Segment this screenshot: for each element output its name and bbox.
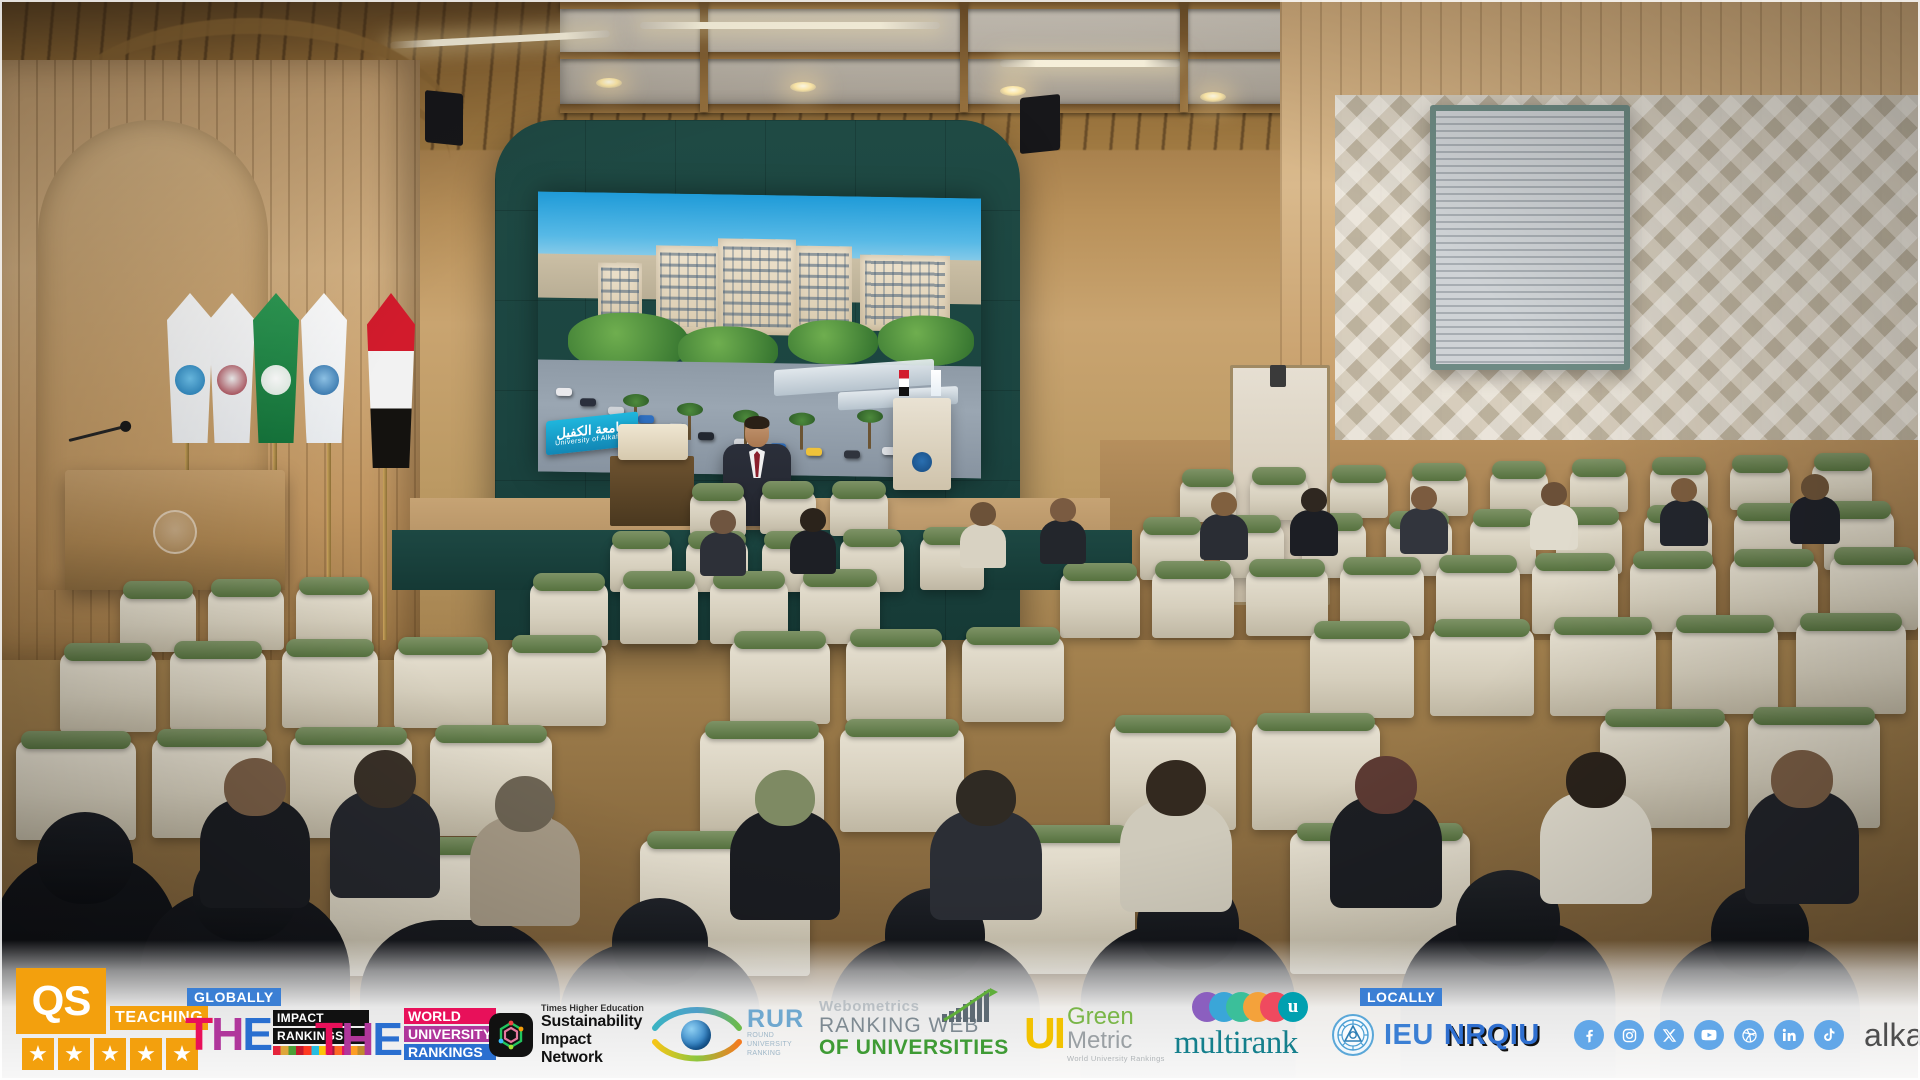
multirank-wordmark: multirank [1174, 1027, 1324, 1060]
badge-locally: LOCALLY [1360, 988, 1442, 1006]
audience-seat [170, 650, 266, 730]
audience-seat [508, 644, 606, 726]
multirank-circles: u [1192, 992, 1324, 1026]
tiktok-icon[interactable] [1814, 1020, 1844, 1050]
greenmetric-word-metric: Metric [1067, 1029, 1165, 1053]
audience-member [470, 776, 580, 916]
ceiling-downlight [1000, 86, 1026, 96]
ui-greenmetric-logo: UI Green Metric World University Ranking… [1024, 962, 1174, 1074]
audience-member [330, 750, 440, 890]
rur-sub3: RANKING [747, 1050, 804, 1059]
multirank-u-mark: u [1278, 992, 1308, 1022]
audience-seat [1672, 624, 1778, 714]
audience-member [1745, 750, 1859, 894]
sustainability-impact-network-logo: Times Higher Education Sustainability Im… [489, 962, 649, 1074]
the-acronym: T H E [185, 1014, 271, 1055]
audience-seat [1310, 630, 1414, 718]
flag-institution-4 [301, 293, 347, 443]
parked-car [556, 388, 572, 396]
wall-speaker [1270, 365, 1286, 387]
audience-member [790, 508, 836, 570]
youtube-icon[interactable] [1694, 1020, 1724, 1050]
campus-greenery [788, 319, 878, 364]
ceiling-downlight [790, 82, 816, 92]
rur-globe-icon [681, 1020, 711, 1050]
qs-star: ★ [22, 1038, 54, 1070]
qs-logo: QS [16, 968, 106, 1034]
audience-seat [1570, 468, 1628, 512]
greenmetric-mark: UI [1024, 1014, 1064, 1054]
sin-line1: Sustainability [541, 1013, 649, 1031]
the-letter-t: T [315, 1019, 341, 1060]
flag-institution-1 [167, 293, 213, 443]
x-twitter-icon[interactable] [1654, 1020, 1684, 1050]
audience-seat [1430, 628, 1534, 716]
wur-line-rankings: RANKINGS [404, 1044, 496, 1060]
audience-member [1400, 486, 1448, 550]
ceiling-beam [560, 52, 1320, 59]
ceiling-beam [560, 0, 1320, 9]
wur-line-world: WORLD [404, 1008, 496, 1024]
rur-sub2: UNIVERSITY [747, 1041, 804, 1050]
campus-building [718, 238, 796, 335]
ceiling-light-strip [640, 22, 940, 29]
qs-stars-block: QS TEACHING ★ ★ ★ ★ ★ [16, 962, 181, 1074]
audience-seat [1152, 570, 1234, 638]
linkedin-icon[interactable] [1774, 1020, 1804, 1050]
audience-seat [394, 646, 492, 728]
audience-seat [846, 638, 946, 722]
audience-member [1330, 756, 1442, 898]
parked-car [580, 398, 596, 406]
ceiling-speaker-box [1020, 94, 1060, 154]
audience-member [1530, 482, 1578, 546]
dribbble-icon[interactable] [1734, 1020, 1764, 1050]
parked-car [638, 415, 654, 423]
audience-seat [60, 652, 156, 732]
webometrics-logo: Webometrics RANKING WEB OF UNIVERSITIES [819, 962, 1024, 1074]
audience-seat [282, 648, 378, 728]
audience-member [1540, 752, 1652, 894]
audience-member [200, 758, 310, 898]
rur-name: RUR [747, 1007, 804, 1032]
rur-eye-mark [649, 1002, 745, 1064]
branding-footer-inner: QS TEACHING ★ ★ ★ ★ ★ GLOBALLY T H [0, 962, 1920, 1074]
audience-member [730, 770, 840, 910]
ceiling-speaker-box [425, 90, 463, 146]
wur-line-university: UNIVERSITY [404, 1026, 496, 1042]
flag-emblem [309, 365, 339, 395]
audience-member [1200, 492, 1248, 556]
the-letter-e: E [242, 1014, 271, 1055]
lectern-flag-iraq [899, 370, 909, 396]
growth-chart-icon [942, 988, 1000, 1022]
audience-member [1790, 474, 1840, 540]
ceiling-light-strip [1000, 60, 1180, 67]
instagram-icon[interactable] [1614, 1020, 1644, 1050]
local-rankings-block: LOCALLY [1324, 962, 1574, 1074]
the-letter-e: E [372, 1019, 401, 1060]
audience-seat [730, 640, 830, 724]
audience-member [1120, 760, 1232, 902]
audience-seat [962, 636, 1064, 722]
screenshot-root: جامعة الكفيل University of Alkafeel [0, 0, 1920, 1080]
audience-member [700, 510, 746, 572]
lectern-flag-institution [931, 370, 941, 396]
qs-star: ★ [58, 1038, 90, 1070]
branding-footer: QS TEACHING ★ ★ ★ ★ ★ GLOBALLY T H [0, 940, 1920, 1080]
rur-logo: RUR ROUND UNIVERSITY RANKING [649, 962, 819, 1074]
the-letter-t: T [185, 1014, 211, 1055]
the-world-university-rankings-logo: T H E WORLD UNIVERSITY RANKINGS [311, 962, 489, 1074]
social-handle[interactable]: alkafeeleduiq [1864, 1017, 1920, 1054]
ceiling-beam [700, 0, 708, 112]
flag-institution-3 [253, 293, 299, 443]
sin-line2: Impact Network [541, 1031, 649, 1067]
rur-sub1: ROUND [747, 1032, 804, 1041]
flag-emblem [217, 365, 247, 395]
qs-star-rating: ★ ★ ★ ★ ★ [22, 1038, 198, 1070]
audience-seat [620, 580, 698, 644]
auditorium-room: جامعة الكفيل University of Alkafeel [0, 0, 1920, 1080]
window-blind [1430, 105, 1630, 370]
the-letter-h: H [211, 1014, 242, 1055]
audience-seat [1330, 474, 1388, 518]
qs-star: ★ [130, 1038, 162, 1070]
audience-seat [1796, 622, 1906, 714]
sin-eyebrow: Times Higher Education [541, 1003, 649, 1013]
ceiling-downlight [1200, 92, 1226, 102]
audience-member [1660, 478, 1708, 542]
greenmetric-subtitle: World University Rankings [1067, 1055, 1165, 1063]
hexagon-network-icon [489, 1013, 533, 1057]
audience-member [1290, 488, 1338, 552]
social-links: alkafeeleduiq [1574, 983, 1920, 1054]
badge-globally: GLOBALLY [187, 988, 281, 1006]
webometrics-line3: OF UNIVERSITIES [819, 1037, 1024, 1059]
ceiling-beam [1180, 0, 1188, 112]
ieu-seal-icon [1332, 1014, 1374, 1056]
facebook-icon[interactable] [1574, 1020, 1604, 1050]
presenter-hair [745, 416, 770, 429]
audience-member [960, 502, 1006, 564]
ieu-wordmark: IEU [1384, 1019, 1434, 1052]
palm-tree [688, 412, 691, 440]
ceiling-beam [560, 104, 1320, 113]
the-letter-h: H [341, 1019, 372, 1060]
qs-star: ★ [94, 1038, 126, 1070]
flag-emblem [175, 365, 205, 395]
audience-member [930, 770, 1042, 910]
qs-logo-text: QS [32, 980, 91, 1022]
nrqiu-wordmark: NRQIU [1444, 1019, 1540, 1052]
greenmetric-word-green: Green [1067, 1005, 1165, 1029]
the-acronym: T H E [315, 1019, 401, 1060]
audience-seat [1060, 572, 1140, 638]
audience-member [1040, 498, 1086, 560]
flag-emblem [261, 365, 291, 395]
ceiling-downlight [596, 78, 622, 88]
the-impact-rankings-logo: GLOBALLY T H E IMPACT RANKINGS [181, 962, 311, 1074]
audience-seat [1550, 626, 1656, 716]
flag-institution-2 [209, 293, 255, 443]
u-multirank-logo: u multirank [1174, 962, 1324, 1074]
ceiling-beam [960, 0, 968, 112]
